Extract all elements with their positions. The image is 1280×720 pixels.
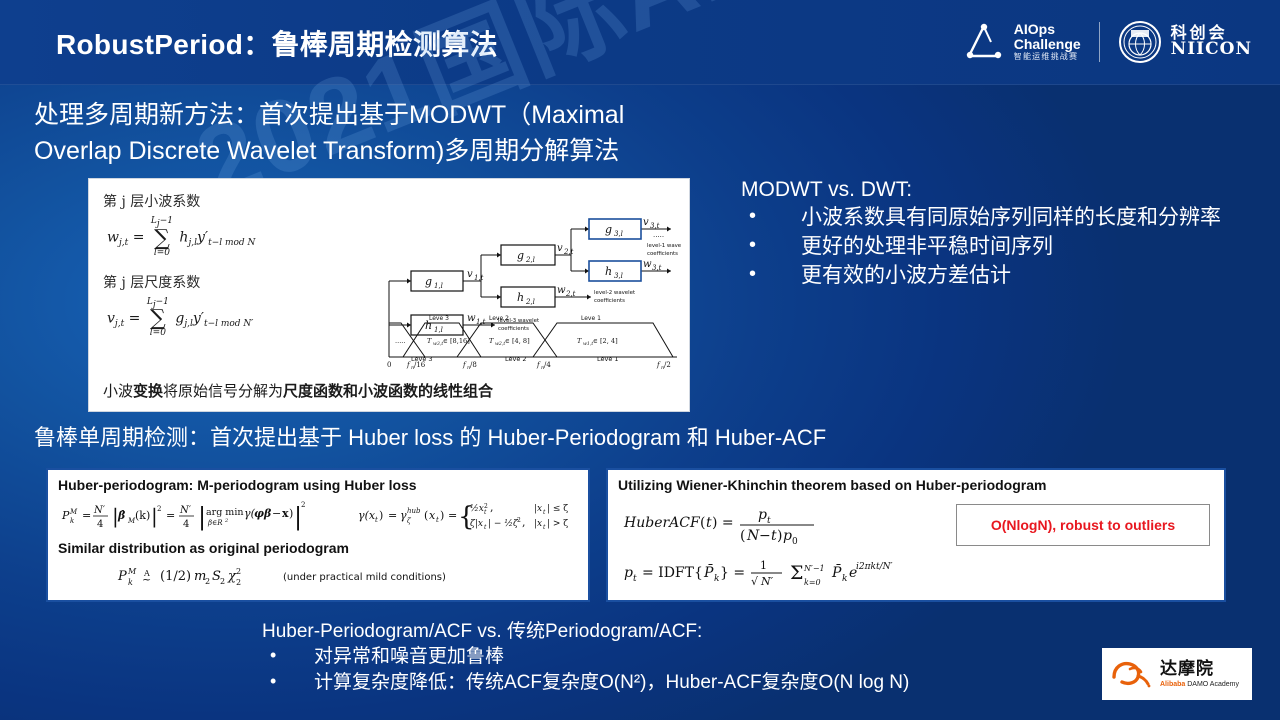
svg-text:γ(x: γ(x xyxy=(358,509,376,522)
niicon-logo-en: NIICON xyxy=(1171,41,1252,59)
comparison-summary-list: Huber-Periodogram/ACF vs. 传统Periodogram/… xyxy=(262,616,1122,696)
tree-edge-v2t: v xyxy=(557,243,563,254)
aiops-triangle-icon xyxy=(963,22,1005,62)
tree-edge-v1t: v xyxy=(467,269,473,280)
list-item: 对异常和噪音更加鲁棒 xyxy=(262,644,1122,670)
modwt-figure-caption: 小波变换将原始信号分解为尺度函数和小波函数的线性组合 xyxy=(103,380,493,401)
svg-text:k: k xyxy=(70,517,74,525)
svg-text:/8: /8 xyxy=(470,361,477,369)
svg-text:|x: |x xyxy=(534,519,542,529)
header-logo-bar: AIOps Challenge 智能运维挑战赛 科创会 NIICON xyxy=(963,16,1252,68)
svg-text:k: k xyxy=(128,578,133,587)
summation-symbol-2: Lj−1 ∑ l=0 xyxy=(147,298,169,339)
svg-text:N′: N′ xyxy=(179,505,192,516)
section1-title: 处理多周期新方法：首次提出基于MODWT（Maximal Overlap Dis… xyxy=(34,98,714,169)
svg-text:2: 2 xyxy=(236,578,241,587)
caption-part2: 变换 xyxy=(133,382,163,400)
svg-text:2: 2 xyxy=(220,577,225,586)
svg-text:coefficients: coefficients xyxy=(594,298,625,304)
svg-text:=: = xyxy=(388,509,397,522)
svg-text:hub: hub xyxy=(407,507,421,515)
svg-text:2: 2 xyxy=(517,517,521,524)
svg-text:(: ( xyxy=(740,528,745,544)
scale-coeff-equation: vj,t = Lj−1 ∑ l=0 gj,ly′t−l mod N′ xyxy=(107,298,403,339)
svg-text:| > ζ: | > ζ xyxy=(547,519,568,529)
svg-text:P: P xyxy=(117,569,127,584)
huber-acf-equations: HuberACF(t) = pt (N−t)p0 pt = IDFT{P̄k} … xyxy=(618,493,988,589)
aiops-logo-line1: AIOps xyxy=(1014,22,1081,37)
list-item: 更有效的小波方差估计 xyxy=(741,262,1241,290)
svg-text:t: t xyxy=(484,509,487,516)
tree-node-h2l: h xyxy=(517,291,524,304)
huber-distribution-note: (under practical mild conditions) xyxy=(283,572,446,583)
svg-text:): ) xyxy=(777,528,782,544)
tree-edge-w3t: w xyxy=(643,259,652,270)
svg-text:t: t xyxy=(543,509,546,516)
band-level-2: Leve 2 xyxy=(489,315,509,322)
svg-text:½x: ½x xyxy=(470,503,484,514)
svg-text:0: 0 xyxy=(792,537,798,547)
modwt-comparison-list: MODWT vs. DWT: 小波系数具有同原始序列同样的长度和分辨率 更好的处… xyxy=(741,178,1241,291)
sum2-top-tail: −1 xyxy=(156,297,169,307)
tree-anno-ellipsis: ..... xyxy=(653,231,664,239)
svg-text:k: k xyxy=(714,574,719,584)
huber-box-subheading: Similar distribution as original periodo… xyxy=(58,540,578,556)
svg-text:=: = xyxy=(82,509,91,522)
band-tick-0: 0 xyxy=(387,361,391,369)
svg-text:3,t: 3,t xyxy=(652,264,662,272)
eq-w-sub: j,t xyxy=(119,238,128,248)
svg-text:(: ( xyxy=(424,509,428,522)
wavelet-coeff-label: 第 j 层小波系数 xyxy=(103,191,403,211)
svg-text:): ) xyxy=(440,509,444,522)
svg-text:p: p xyxy=(624,565,633,581)
comparison-summary-heading: Huber-Periodogram/ACF vs. 传统Periodogram/… xyxy=(262,616,1122,643)
band-range-3: T xyxy=(427,337,432,345)
svg-text:,: , xyxy=(490,501,494,514)
svg-text:4: 4 xyxy=(183,519,189,530)
svg-text:=: = xyxy=(166,509,175,522)
svg-text:∈ [2, 4]: ∈ [2, 4] xyxy=(593,337,618,345)
slide-header: RobustPeriod：鲁棒周期检测算法 AIOps Challenge 智能… xyxy=(0,0,1280,85)
sum-top-tail: −1 xyxy=(160,216,173,226)
band-level-3: Leve 3 xyxy=(429,315,449,322)
svg-text:2,t: 2,t xyxy=(565,290,576,298)
svg-text:arg min: arg min xyxy=(206,507,243,518)
band-range-1: T xyxy=(577,337,582,345)
svg-text:w3,t: w3,t xyxy=(433,341,443,347)
svg-text:=: = xyxy=(448,509,457,522)
svg-text:(1/2): (1/2) xyxy=(160,569,191,584)
tree-node-g3l: g xyxy=(605,223,612,236)
complexity-badge: O(NlogN), robust to outliers xyxy=(956,504,1210,546)
caption-part1: 小波 xyxy=(103,382,133,400)
svg-text:2: 2 xyxy=(205,577,210,586)
svg-text:x: x xyxy=(282,507,289,520)
svg-text:∈ [4, 8]: ∈ [4, 8] xyxy=(505,337,530,345)
svg-text:4: 4 xyxy=(97,519,103,530)
aiops-challenge-logo: AIOps Challenge 智能运维挑战赛 xyxy=(963,22,1081,62)
svg-text:ζ: ζ xyxy=(407,517,412,525)
damo-logo-sub: DAMO Academy xyxy=(1187,681,1239,688)
frequency-band-diagram: Leve 3 Leve 2 Leve 1 ..... Tw3,t∈ [8,16]… xyxy=(385,307,681,369)
tree-anno-level2: level-2 wavelet xyxy=(594,290,635,296)
list-item: 更好的处理非平稳时间序列 xyxy=(741,233,1241,261)
svg-text:coefficients: coefficients xyxy=(647,251,678,257)
svg-text:k: k xyxy=(842,574,847,584)
page-title: RobustPeriod：鲁棒周期检测算法 xyxy=(56,23,498,63)
svg-text:1,l: 1,l xyxy=(434,282,443,290)
svg-text:N′−1: N′−1 xyxy=(803,564,825,573)
tree-node-h3l: h xyxy=(605,265,612,278)
tree-edge-w2t: w xyxy=(557,285,566,296)
section2-title: 鲁棒单周期检测：首次提出基于 Huber loss 的 Huber-Period… xyxy=(34,420,826,452)
svg-text:i2πkt/N′: i2πkt/N′ xyxy=(856,562,893,572)
svg-text:φβ: φβ xyxy=(254,507,272,520)
svg-text:| ≤ ζ: | ≤ ζ xyxy=(547,504,568,514)
svg-text:HuberACF: HuberACF xyxy=(623,515,701,531)
damo-academy-icon xyxy=(1108,657,1154,691)
svg-text:−: − xyxy=(272,507,281,520)
svg-text:ζ|x: ζ|x xyxy=(470,519,483,529)
eq-w-h-sub: j,l xyxy=(188,238,197,248)
summation-symbol-1: Lj−1 ∑ l=0 xyxy=(151,217,173,258)
eq-v-sub: j,t xyxy=(115,319,124,329)
svg-text:): ) xyxy=(289,507,293,520)
sum-bot-1: l=0 xyxy=(154,249,170,258)
svg-text:t: t xyxy=(484,524,487,531)
wk-box-heading: Utilizing Wiener-Khinchin theorem based … xyxy=(618,477,1214,493)
svg-text:Σ: Σ xyxy=(790,562,803,584)
band-level-1: Leve 1 xyxy=(581,315,601,322)
svg-text:k=0: k=0 xyxy=(804,578,821,587)
logo-divider xyxy=(1099,22,1100,62)
niicon-logo: 科创会 NIICON xyxy=(1118,20,1252,64)
modwt-comparison-heading: MODWT vs. DWT: xyxy=(741,178,1241,202)
svg-text:2: 2 xyxy=(301,501,305,509)
svg-text:x: x xyxy=(429,509,436,522)
svg-text:): ) xyxy=(379,509,383,522)
svg-text:2: 2 xyxy=(224,518,228,524)
svg-text:2: 2 xyxy=(236,567,241,576)
eq-v-y: y′ xyxy=(193,310,204,326)
svg-text:2,l: 2,l xyxy=(525,298,535,306)
tree-node-g2l: g xyxy=(517,249,524,262)
eq-v-y-sub: t−l mod N′ xyxy=(204,319,253,329)
svg-text:P̄: P̄ xyxy=(831,563,842,581)
huber-distribution-equation: PMk A ~ (1/2) m2 S2 χ22 (under practical… xyxy=(58,556,578,590)
svg-text:1: 1 xyxy=(760,559,767,572)
svg-text:2: 2 xyxy=(157,505,161,513)
svg-text:w2,t: w2,t xyxy=(495,341,505,347)
svg-text:/2: /2 xyxy=(664,361,671,369)
svg-text:∈ [8,16]: ∈ [8,16] xyxy=(443,337,470,345)
svg-text:3,l: 3,l xyxy=(614,272,623,280)
svg-text:t: t xyxy=(633,574,637,584)
svg-text:t: t xyxy=(375,516,378,524)
svg-text:/4: /4 xyxy=(544,361,551,369)
damo-logo-en: Alibaba DAMO Academy xyxy=(1160,681,1239,688)
svg-text:N: N xyxy=(746,528,760,544)
svg-text:−: − xyxy=(759,528,771,544)
band-range-2: T xyxy=(489,337,494,345)
wavelet-coeff-equation: wj,t = Lj−1 ∑ l=0 hj,ly′t−l mod N xyxy=(107,217,403,258)
svg-text:| − ½ζ: | − ½ζ xyxy=(488,518,519,529)
band-ellipsis: ..... xyxy=(395,337,405,345)
modwt-figure-box: 第 j 层小波系数 wj,t = Lj−1 ∑ l=0 hj,ly′t−l mo… xyxy=(88,178,690,412)
huber-periodogram-equations: PMk = N′4 | β̂M(k) |2 = N′4 | arg minβ∈R… xyxy=(58,493,578,535)
svg-text:p: p xyxy=(783,528,792,544)
tree-node-g1l: g xyxy=(425,275,432,288)
svg-text:N′: N′ xyxy=(760,575,774,588)
eq-v-g: g xyxy=(175,310,184,326)
eq-v-lhs: v xyxy=(107,310,115,326)
list-item: 小波系数具有同原始序列同样的长度和分辨率 xyxy=(741,204,1241,232)
svg-text:2,t: 2,t xyxy=(563,248,574,256)
svg-text:2,l: 2,l xyxy=(525,256,535,264)
svg-text:} =: } = xyxy=(720,565,745,581)
svg-text:/16: /16 xyxy=(414,361,426,369)
eq-w-y-sub: t−l mod N xyxy=(208,238,255,248)
svg-text:3,t: 3,t xyxy=(650,222,660,230)
aiops-logo-line3: 智能运维挑战赛 xyxy=(1014,53,1081,61)
svg-text:|: | xyxy=(198,503,206,532)
svg-text:√: √ xyxy=(751,575,759,588)
caption-part4: 尺度函数和小波函数的线性组合 xyxy=(283,382,493,400)
svg-text:= IDFT{: = IDFT{ xyxy=(642,565,703,581)
svg-text:|x: |x xyxy=(534,504,542,514)
svg-text:P̄: P̄ xyxy=(703,563,714,581)
svg-text:M: M xyxy=(69,508,78,516)
wiener-khinchin-box: Utilizing Wiener-Khinchin theorem based … xyxy=(606,468,1226,602)
niicon-seal-icon xyxy=(1118,20,1162,64)
huber-box-heading: Huber-periodogram: M-periodogram using H… xyxy=(58,477,578,493)
status-badge: O(NlogN), robust to outliers xyxy=(991,517,1175,533)
svg-text:γ: γ xyxy=(400,509,407,522)
eq-w-y: y′ xyxy=(197,229,208,245)
sum-bot-2: l=0 xyxy=(150,329,166,338)
svg-text:M: M xyxy=(127,567,137,576)
svg-text:N′: N′ xyxy=(93,505,106,516)
svg-text:(k): (k) xyxy=(135,509,150,522)
modwt-formula-column: 第 j 层小波系数 wj,t = Lj−1 ∑ l=0 hj,ly′t−l mo… xyxy=(103,191,403,352)
svg-text:t: t xyxy=(543,524,546,531)
tree-anno-level1: level-1 wavelet xyxy=(647,243,681,249)
scale-coeff-label: 第 j 层尺度系数 xyxy=(103,272,403,292)
tree-edge-v3t: v xyxy=(643,217,649,228)
svg-text:t: t xyxy=(436,516,439,524)
svg-text:~: ~ xyxy=(142,573,151,586)
svg-text:,: , xyxy=(522,516,526,529)
svg-text:(: ( xyxy=(700,515,705,531)
svg-text:P: P xyxy=(61,509,70,522)
damo-logo-cn: 达摩院 xyxy=(1160,661,1239,678)
damo-academy-logo: 达摩院 Alibaba DAMO Academy xyxy=(1102,648,1252,700)
huber-periodogram-box: Huber-periodogram: M-periodogram using H… xyxy=(46,468,590,602)
list-item: 计算复杂度降低：传统ACF复杂度O(N²)，Huber-ACF复杂度O(N lo… xyxy=(262,670,1122,696)
eq-w-lhs: w xyxy=(107,229,119,245)
aiops-logo-line2: Challenge xyxy=(1014,37,1081,52)
svg-text:3,l: 3,l xyxy=(614,230,623,238)
eq-v-g-sub: j,l xyxy=(184,319,193,329)
svg-text:1,t: 1,t xyxy=(474,274,484,282)
svg-text:p: p xyxy=(758,507,767,523)
svg-text:β̂: β̂ xyxy=(117,509,126,522)
slide-root: RobustPeriod：鲁棒周期检测算法 AIOps Challenge 智能… xyxy=(0,0,1280,720)
caption-part3: 将原始信号分解为 xyxy=(163,382,283,400)
svg-text:w1,t: w1,t xyxy=(583,341,593,347)
damo-logo-brand: Alibaba xyxy=(1160,681,1185,688)
svg-text:β∈R: β∈R xyxy=(207,519,223,527)
svg-text:) =: ) = xyxy=(712,515,734,531)
